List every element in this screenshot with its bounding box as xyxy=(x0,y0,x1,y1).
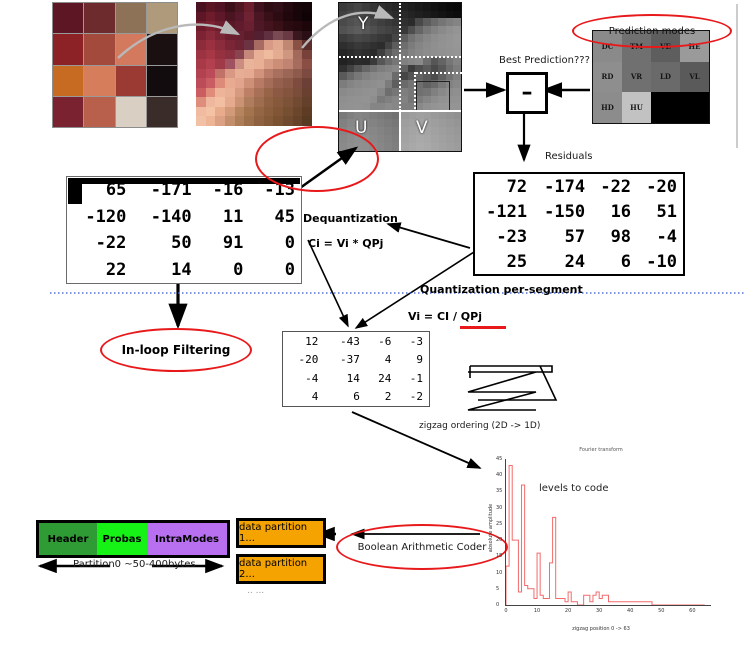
chart-y-axis-label: absolute amplitude xyxy=(488,498,494,558)
table-row: 12-43-6-3 xyxy=(283,332,429,351)
data-partitions-ellipsis: .. ... xyxy=(247,586,264,596)
prediction-modes-label: Prediction modes xyxy=(574,16,730,46)
table-row: -41424-1 xyxy=(283,369,429,388)
subtract-operator-box: – xyxy=(506,72,548,114)
matrix-dc-corner xyxy=(68,178,82,204)
table-row: 221400 xyxy=(67,257,301,284)
chart-x-tick: 50 xyxy=(658,608,664,614)
chart-y-tick: 0 xyxy=(496,602,499,608)
chart-y-tick: 25 xyxy=(496,521,502,527)
quantized-levels-matrix: 12-43-6-3 -20-3749 -41424-1 462-2 xyxy=(282,331,430,407)
best-prediction-label: Best Prediction??? xyxy=(499,55,590,66)
partition0-segment-header: Header xyxy=(39,523,97,555)
chart-y-tick: 35 xyxy=(496,488,502,494)
chart-y-tick: 40 xyxy=(496,472,502,478)
zigzag-ordering-label: zigzag ordering (2D -> 1D) xyxy=(419,421,540,431)
matrix-top-bar xyxy=(68,178,300,184)
chart-x-axis-label: zigzag position 0 -> 63 xyxy=(487,626,715,632)
partition0-size-caption: Partition0 ~50-400bytes xyxy=(73,559,196,570)
partition0-segment-probas: Probas xyxy=(97,523,147,555)
residuals-label: Residuals xyxy=(545,151,592,162)
pred-mode-cell-blank xyxy=(651,92,680,123)
chart-title: Fourier transform xyxy=(487,447,715,453)
chart-y-tick: 30 xyxy=(496,505,502,511)
chart-series-path xyxy=(506,459,711,605)
pred-mode-cell-blank xyxy=(680,92,709,123)
table-row: -121-1501651 xyxy=(475,199,683,224)
pred-mode-cell: VR xyxy=(622,62,651,93)
boolean-coder-ellipse: Boolean Arithmetic Coder xyxy=(336,524,508,570)
table-row: 25246-10 xyxy=(475,249,683,274)
zoomed-macroblock xyxy=(196,2,312,126)
chart-y-tick: 5 xyxy=(496,586,499,592)
macroblock-photo-grid xyxy=(52,2,178,128)
inloop-filtering-label: In-loop Filtering xyxy=(102,330,250,370)
uv-middle-separator xyxy=(399,111,401,151)
partition0-segment-intramodes: IntraModes xyxy=(147,523,227,555)
dequantization-formula: Ci = Vi * QPj xyxy=(308,237,383,250)
data-partition-1: data partition 1... xyxy=(236,518,326,548)
subblock-dotted-horizontal xyxy=(416,72,462,74)
boolean-coder-label: Boolean Arithmetic Coder xyxy=(338,526,506,568)
chart-x-tick: 20 xyxy=(565,608,571,614)
data-partition-2: data partition 2... xyxy=(236,554,326,584)
inloop-filtering-ellipse: In-loop Filtering xyxy=(100,328,252,372)
chart-x-tick: 60 xyxy=(689,608,695,614)
chart-x-tick: 10 xyxy=(534,608,540,614)
table-row: -120-1401145 xyxy=(67,204,301,231)
chart-x-tick: 30 xyxy=(596,608,602,614)
partition0-bar: Header Probas IntraModes xyxy=(36,520,230,558)
quantization-label: Quantization per-segment xyxy=(420,283,583,296)
pred-mode-cell: VL xyxy=(680,62,709,93)
pred-mode-cell: LD xyxy=(651,62,680,93)
table-row: -20-3749 xyxy=(283,351,429,370)
prediction-modes-highlight-ellipse: Prediction modes xyxy=(572,14,732,48)
chart-y-tick: 15 xyxy=(496,553,502,559)
pred-mode-cell: RD xyxy=(593,62,622,93)
selected-4x4-subblock xyxy=(416,81,450,113)
table-row: 462-2 xyxy=(283,388,429,407)
pred-mode-cell: HD xyxy=(593,92,622,123)
chart-y-tick: 20 xyxy=(496,537,502,543)
coefficient-amplitude-chart: Fourier transform absolute amplitude zig… xyxy=(487,447,715,632)
table-row: 72-174-22-20 xyxy=(475,174,683,199)
v-plane-label: V xyxy=(416,118,428,138)
dequantization-label: Dequantization xyxy=(303,212,398,225)
dequantized-coefficients-matrix: 65-171-16-13 -120-1401145 -2250910 22140… xyxy=(66,176,302,284)
chart-x-tick: 0 xyxy=(504,608,507,614)
pred-mode-cell: HU xyxy=(622,92,651,123)
quantization-formula: Vi = CI / QPj xyxy=(408,310,482,323)
chart-y-tick: 45 xyxy=(496,456,502,462)
v-plane-pixels xyxy=(401,111,461,151)
chart-y-tick: 10 xyxy=(496,570,502,576)
table-row: -235798-4 xyxy=(475,224,683,249)
chart-x-tick: 40 xyxy=(627,608,633,614)
table-row: -2250910 xyxy=(67,230,301,257)
y-plane-horizontal-divider xyxy=(339,56,461,58)
chart-annotation: levels to code xyxy=(539,483,609,494)
chart-plot-area: 0102030405060 051015202530354045 xyxy=(505,459,711,606)
residuals-matrix: 72-174-22-20 -121-1501651 -235798-4 2524… xyxy=(473,172,685,276)
quantization-formula-underline xyxy=(460,326,506,329)
yuv-highlight-ellipse xyxy=(255,126,379,192)
y-plane-label: Y xyxy=(358,14,368,34)
